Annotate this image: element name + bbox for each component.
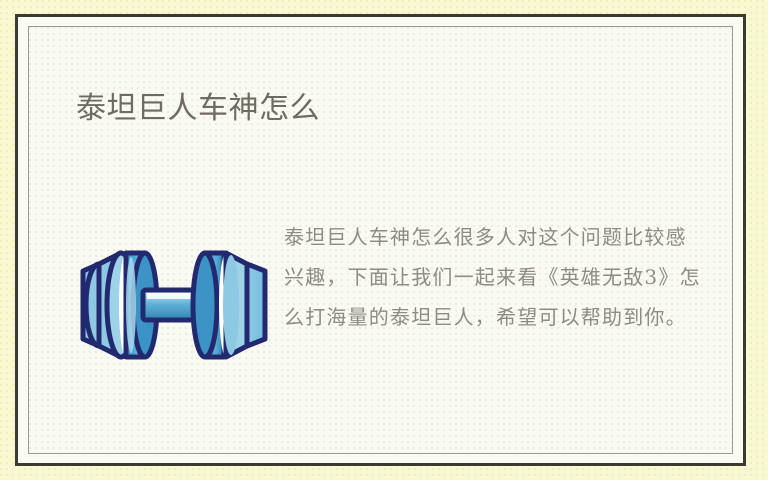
- article-card-outer-frame: 泰坦巨人车神怎么: [15, 14, 746, 466]
- article-thumbnail: [69, 231, 281, 376]
- dumbbell-icon: [69, 231, 281, 376]
- dumbbell-right-outer-plate: [247, 264, 265, 346]
- article-card-inner-frame: 泰坦巨人车神怎么: [28, 26, 733, 454]
- dumbbell-right-mid-plate: [223, 253, 247, 357]
- page-root: 泰坦巨人车神怎么: [0, 0, 768, 480]
- page-title: 泰坦巨人车神怎么: [76, 89, 320, 129]
- article-body-text: 泰坦巨人车神怎么很多人对这个问题比较感兴趣，下面让我们一起来看《英雄无敌3》怎么…: [284, 217, 704, 337]
